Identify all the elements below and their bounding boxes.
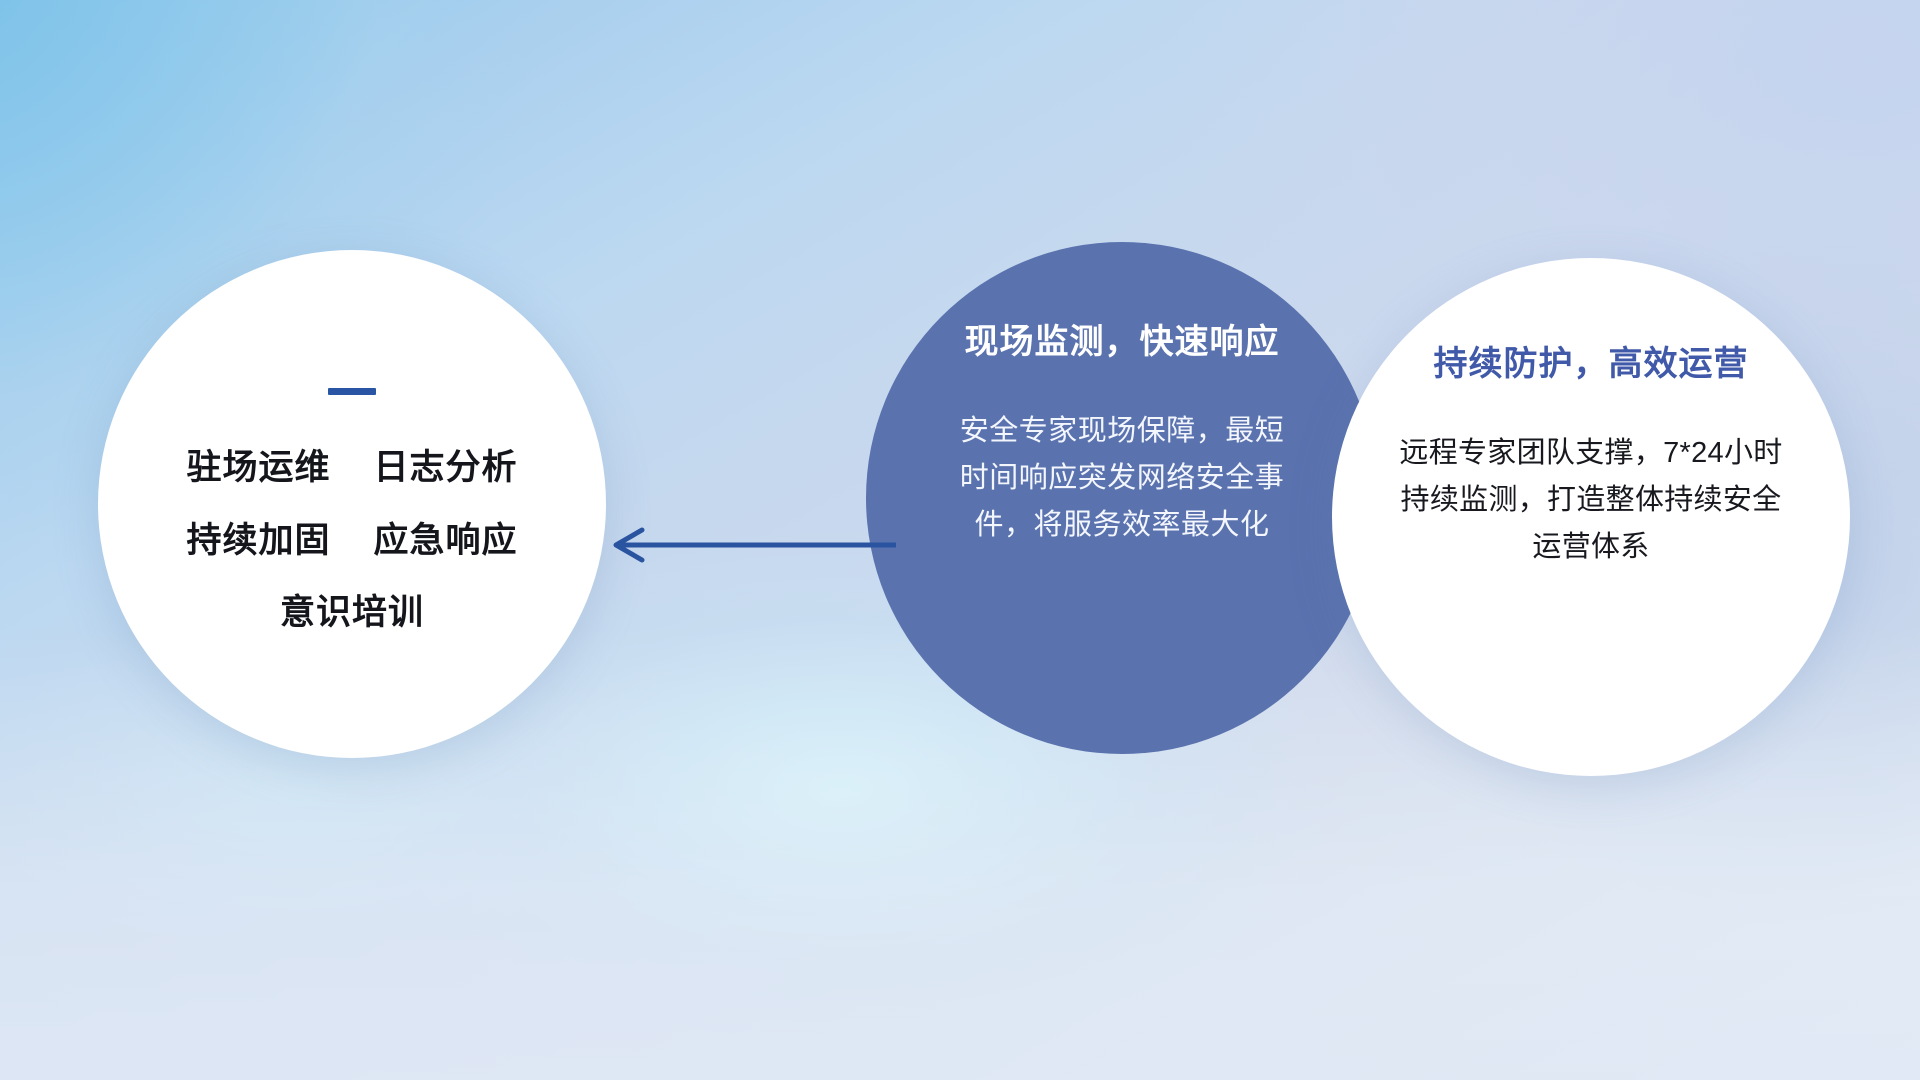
horizontal-dash-icon — [328, 388, 376, 395]
bubble-middle-title: 现场监测，快速响应 — [965, 320, 1280, 364]
capability-line-2: 持续加固 应急响应 — [187, 516, 518, 566]
capability-bubble-right: 持续防护，高效运营 远程专家团队支撑，7*24小时持续监测，打造整体持续安全运营… — [1332, 258, 1850, 776]
capability-line-1: 驻场运维 日志分析 — [187, 443, 518, 493]
slide-canvas: 驻场运维 日志分析 持续加固 应急响应 意识培训 现场监测，快速响应 安全专家现… — [0, 0, 1920, 1080]
arrow-left-icon — [598, 512, 898, 578]
bubble-middle-body: 安全专家现场保障，最短时间响应突发网络安全事件，将服务效率最大化 — [957, 408, 1287, 549]
capability-line-3: 意识培训 — [280, 588, 424, 638]
capability-bubble-left: 驻场运维 日志分析 持续加固 应急响应 意识培训 — [98, 250, 606, 758]
bubble-right-title: 持续防护，高效运营 — [1434, 342, 1749, 386]
capability-bubble-middle: 现场监测，快速响应 安全专家现场保障，最短时间响应突发网络安全事件，将服务效率最… — [866, 242, 1378, 754]
bubble-right-body: 远程专家团队支撑，7*24小时持续监测，打造整体持续安全运营体系 — [1391, 430, 1791, 571]
